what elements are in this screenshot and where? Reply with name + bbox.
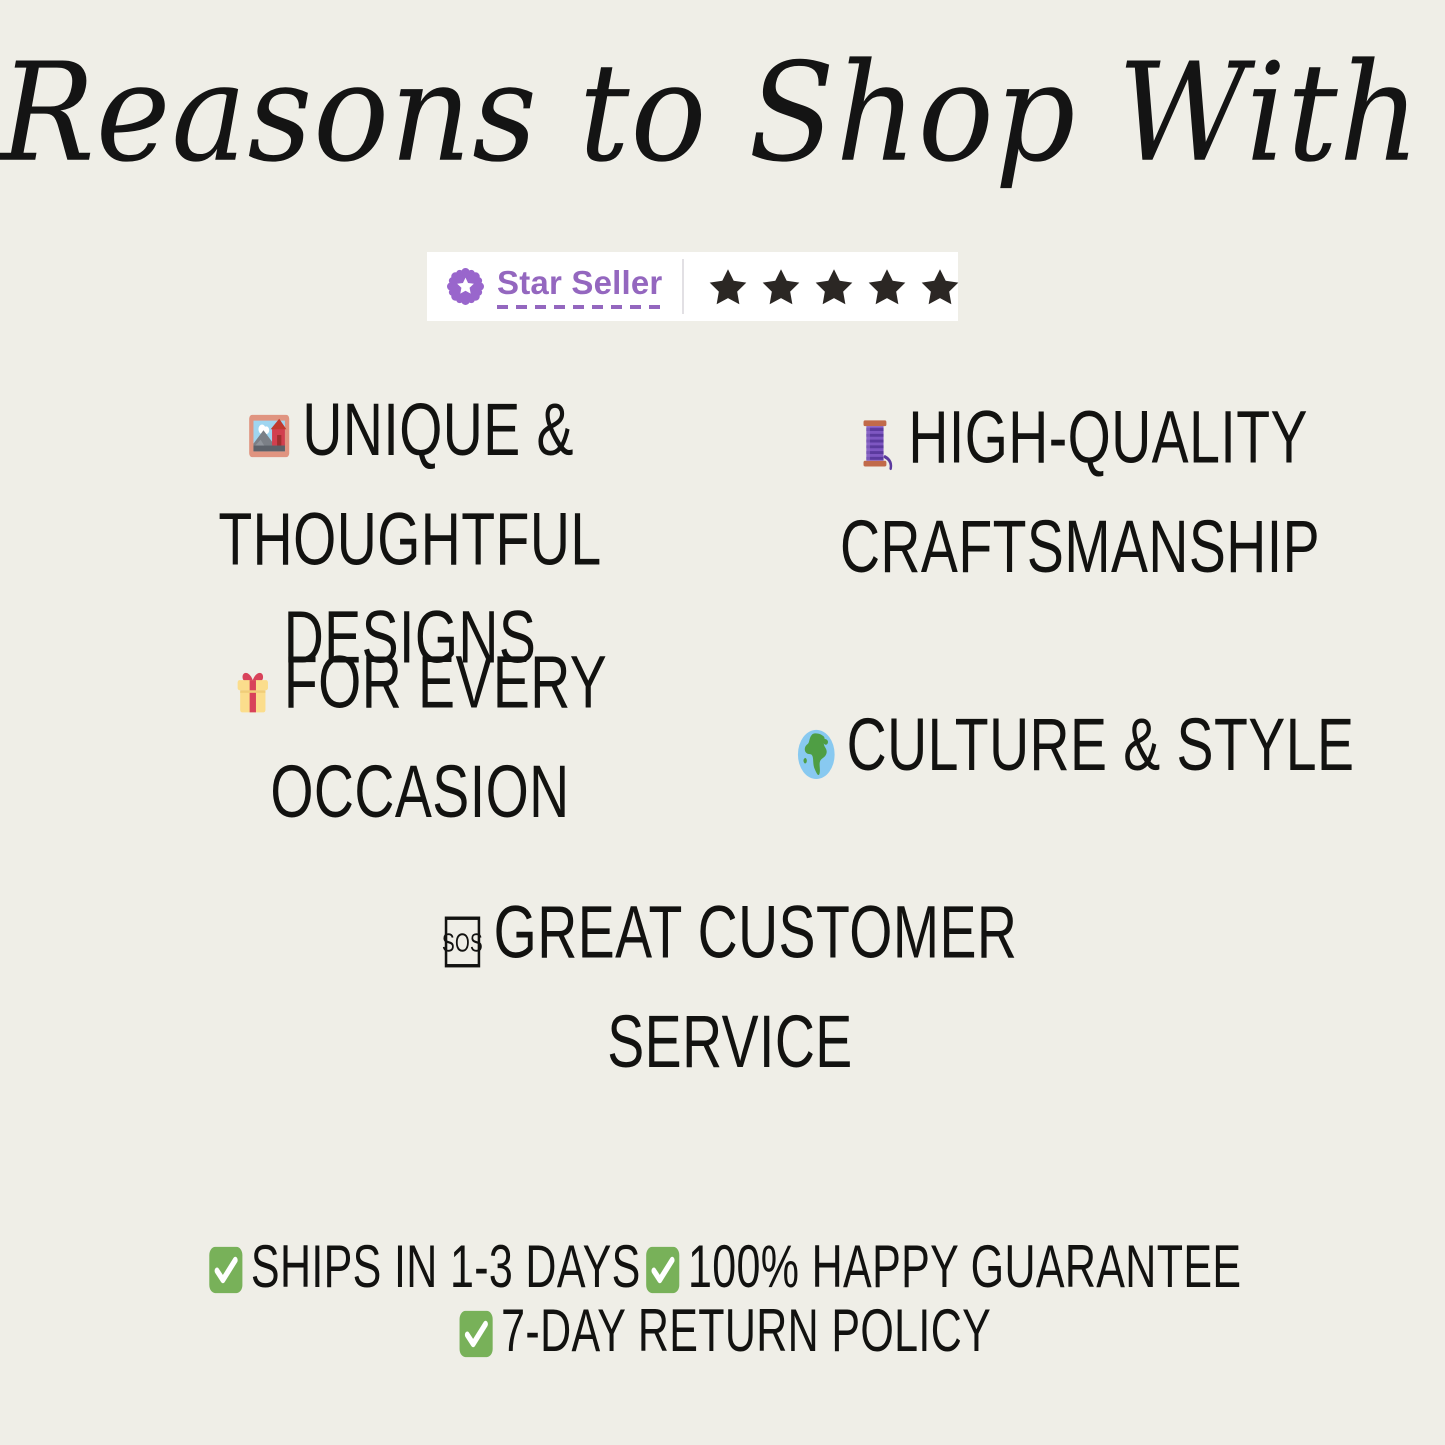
feature-every-occasion: FOR EVERY OCCASION	[147, 634, 693, 842]
star-seller-text-block: Star Seller	[497, 265, 662, 309]
star-seller-badge: Star Seller	[427, 252, 958, 321]
feature-service-line2: SERVICE	[607, 1001, 852, 1084]
feature-culture-line1: CULTURE & STYLE	[847, 704, 1355, 787]
rating-stars	[684, 265, 962, 309]
star-icon	[812, 265, 856, 309]
feature-service-line1: GREAT CUSTOMER	[494, 891, 1018, 974]
feature-high-quality: HIGH-QUALITY CRAFTSMANSHIP	[798, 389, 1361, 597]
star-seller-label-group: Star Seller	[427, 252, 662, 321]
framed-picture-icon	[246, 393, 292, 491]
star-seller-dashed-underline	[497, 305, 662, 309]
feature-culture-style: CULTURE & STYLE	[776, 697, 1374, 807]
star-icon	[706, 265, 750, 309]
star-seller-rosette-icon	[447, 268, 484, 305]
gift-icon	[233, 646, 273, 744]
feature-quality-line2: CRAFTSMANSHIP	[840, 506, 1320, 589]
footer-ships-text: SHIPS IN 1-3 DAYS	[251, 1233, 641, 1300]
check-mark-button-icon	[457, 1302, 495, 1379]
feature-customer-service: SOS GREAT CUSTOMER SERVICE	[396, 884, 1065, 1092]
feature-occasion-line1: FOR EVERY	[284, 641, 607, 724]
feature-occasion-line2: OCCASION	[270, 751, 569, 834]
footer-return-policy-text: 7-DAY RETURN POLICY	[501, 1297, 991, 1364]
footer-guarantee-text: 100% HAPPY GUARANTEE	[688, 1233, 1241, 1300]
page-title: Reasons to Shop With Us	[0, 28, 1445, 198]
star-icon	[759, 265, 803, 309]
svg-text:SOS: SOS	[443, 929, 483, 957]
star-seller-label: Star Seller	[497, 265, 662, 301]
thread-spool-icon	[852, 401, 898, 499]
globe-europe-africa-icon	[796, 708, 836, 806]
shop-benefits-graphic: Reasons to Shop With Us	[0, 0, 1445, 1445]
footer-line-2: 7-DAY RETURN POLICY	[101, 1292, 1344, 1378]
sos-icon: SOS	[443, 896, 483, 994]
star-icon	[918, 265, 962, 309]
star-icon	[865, 265, 909, 309]
feature-quality-line1: HIGH-QUALITY	[908, 396, 1308, 479]
feature-unique-line1: UNIQUE &	[302, 389, 574, 472]
